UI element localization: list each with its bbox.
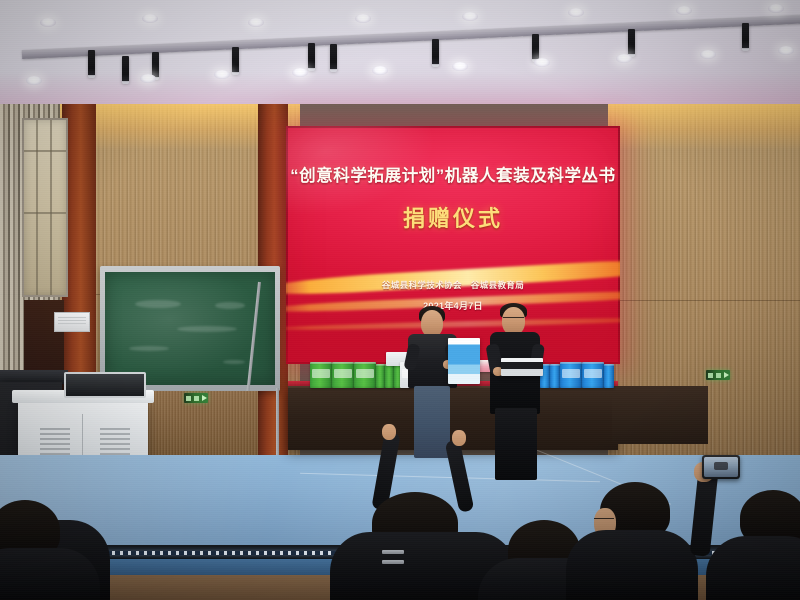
torso xyxy=(706,536,800,600)
photo-scene: “创意科学拓展计划”机器人套装及科学丛书 捐赠仪式 谷城县科学技术协会 谷城县教… xyxy=(0,0,800,600)
downlight-icon xyxy=(568,8,584,17)
downlight-icon xyxy=(214,70,230,79)
donated-robot-kit xyxy=(501,358,543,376)
led-display-screen: “创意科学拓展计划”机器人套装及科学丛书 捐赠仪式 谷城县科学技术协会 谷城县教… xyxy=(286,126,620,364)
track-light-icon xyxy=(122,56,129,82)
cove-light-glow xyxy=(608,104,800,150)
coat-lower xyxy=(495,408,537,480)
track-light-icon xyxy=(308,43,315,69)
track-light-icon xyxy=(742,23,749,49)
donation-item-box xyxy=(560,362,582,388)
window xyxy=(22,118,68,297)
track-light-icon xyxy=(532,34,539,60)
exit-sign-icon xyxy=(706,370,730,380)
donation-item-box xyxy=(385,364,394,388)
audience-member xyxy=(0,548,100,600)
donation-item-box xyxy=(604,364,614,388)
downlight-icon xyxy=(462,12,478,21)
downlight-icon xyxy=(248,18,264,27)
donation-item-box xyxy=(354,362,376,388)
track-light-icon xyxy=(628,29,635,55)
smartphone[interactable] xyxy=(702,455,740,479)
downlight-icon xyxy=(676,6,692,15)
hand xyxy=(382,424,396,440)
downlight-icon xyxy=(452,62,468,71)
torso xyxy=(566,530,698,600)
head xyxy=(421,310,443,337)
jeans-legs xyxy=(414,386,450,458)
downlight-icon xyxy=(534,58,550,67)
downlight-icon xyxy=(616,54,632,63)
ceiling xyxy=(0,0,800,118)
collar-tag xyxy=(382,550,404,554)
screen-title-line-1: “创意科学拓展计划”机器人套装及科学丛书 xyxy=(290,162,616,186)
wall-air-vent xyxy=(54,312,90,332)
downlight-icon xyxy=(372,66,388,75)
downlight-icon xyxy=(700,50,716,59)
screen-title-line-2: 捐赠仪式 xyxy=(403,201,503,233)
downlight-icon xyxy=(140,74,156,83)
track-light-icon xyxy=(330,44,337,70)
downlight-icon xyxy=(292,68,308,77)
donation-item-box xyxy=(550,364,560,388)
donation-item-box xyxy=(310,362,332,388)
track-light-icon xyxy=(232,47,239,73)
downlight-icon xyxy=(768,4,784,13)
donation-item-box xyxy=(332,362,354,388)
downlight-icon xyxy=(355,14,371,23)
downlight-icon xyxy=(40,18,56,27)
light-rail xyxy=(22,14,800,59)
track-light-icon xyxy=(88,50,95,76)
donation-item-box xyxy=(582,362,604,388)
exit-sign-icon xyxy=(184,393,208,403)
downlight-icon xyxy=(778,46,794,55)
donation-item-box xyxy=(376,364,385,388)
donated-science-book xyxy=(448,338,480,384)
screen-text-block: “创意科学拓展计划”机器人套装及科学丛书 捐赠仪式 谷城县科学技术协会 谷城县教… xyxy=(286,126,620,364)
screen-organizations: 谷城县科学技术协会 谷城县教育局 xyxy=(382,279,524,291)
hand xyxy=(452,430,466,446)
donation-table-right xyxy=(612,386,708,444)
glasses-icon xyxy=(594,518,614,523)
glasses-icon xyxy=(503,317,524,322)
downlight-icon xyxy=(142,14,158,23)
track-light-icon xyxy=(432,39,439,65)
collar-tag xyxy=(382,560,404,564)
downlight-icon xyxy=(26,76,42,85)
podium-monitor[interactable] xyxy=(64,372,146,398)
phone-screen xyxy=(704,457,738,477)
